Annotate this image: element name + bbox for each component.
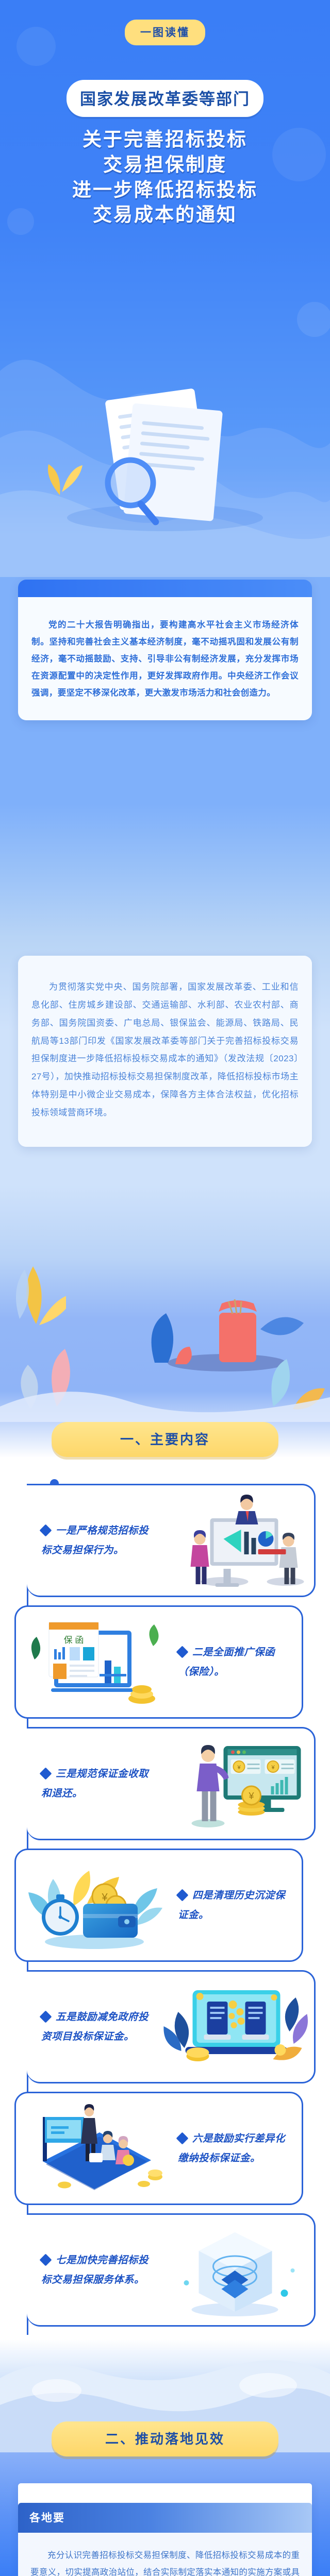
card-cap (18, 580, 312, 597)
documents-magnifier-illustration (0, 363, 330, 533)
svg-text:¥: ¥ (237, 1765, 241, 1771)
implementation-card: 各地要 充分认识完善招标投标交易担保制度、降低招标投标交易成本的重要意义，切实提… (18, 2483, 312, 2576)
secure-vault-illustration (156, 2221, 314, 2319)
diamond-bullet-icon (176, 1646, 188, 1658)
section-2-pill: 二、推动落地见效 (52, 2421, 278, 2456)
podium-presentation-illustration (156, 1492, 314, 1589)
man-figure (279, 1533, 298, 1584)
item-5-label: 五是鼓励减免政府投资项目投标保证金。 (41, 2011, 148, 2042)
clock-wallet-illustration: ¥ (16, 1856, 173, 1954)
intro-paragraph-2-card: 为贯彻落实党中央、国务院部署，国家发展改革委、工业和信息化部、住房城乡建设部、交… (18, 956, 312, 1147)
intro-paragraph-2-text: 为贯彻落实党中央、国务院部署，国家发展改革委、工业和信息化部、住房城乡建设部、交… (31, 978, 299, 1122)
speaker-figure (236, 1495, 258, 1524)
isometric-meeting-illustration (16, 2099, 173, 2197)
item-6-label: 六是鼓励实行差异化缴纳投标保证金。 (178, 2133, 285, 2164)
diamond-bullet-icon (176, 2132, 188, 2144)
people-scene-decoration (0, 1252, 330, 1422)
intro-paragraph-1-text: 党的二十大报告明确指出，要构建高水平社会主义市场经济体制。坚持和完善社会主义基本… (31, 617, 299, 702)
infographic-page: 一图读懂 国家发展改革委等部门 关于完善招标投标 交易担保制度 进一步降低招标投… (0, 0, 330, 2576)
item-4-label: 四是清理历史沉淀保证金。 (178, 1890, 285, 1921)
diamond-bullet-icon (39, 2253, 52, 2266)
woman-figure (191, 1530, 209, 1584)
document-title: 关于完善招标投标 交易担保制度 进一步降低招标投标 交易成本的通知 (0, 127, 330, 228)
laptop-coin-transfer-illustration (156, 1978, 314, 2076)
item-2-label: 二是全面推广保函（保险）。 (178, 1647, 275, 1677)
title-line-1: 关于完善招标投标 (0, 127, 330, 152)
item-1-label: 一是严格规范招标投标交易担保行为。 (41, 1525, 148, 1556)
read-in-one-picture-badge-wrap: 一图读懂 (0, 20, 330, 45)
list-item[interactable]: 四是清理历史沉淀保证金。 ¥ (14, 1849, 303, 1962)
diamond-bullet-icon (39, 1767, 52, 1780)
card-heading-local: 各地要 (18, 2503, 312, 2533)
intro-paragraph-1-card: 党的二十大报告明确指出，要构建高水平社会主义市场经济体制。坚持和完善社会主义基本… (18, 580, 312, 720)
list-item[interactable]: 七是加快完善招标投标交易担保服务体系。 (27, 2213, 316, 2327)
list-item[interactable]: 五是鼓励减免政府投资项目投标保证金。 (27, 1970, 316, 2083)
diamond-bullet-icon (39, 2010, 52, 2023)
section-heading-main-content: 一、主要内容 (52, 1422, 278, 1457)
main-content-item-list: 一是严格规范招标投标交易担保行为。 (0, 1484, 330, 2335)
svg-text:保 函: 保 函 (64, 1635, 84, 1645)
list-item[interactable]: 二是全面推广保函（保险）。 保 函 (14, 1605, 303, 1719)
item-7-label: 七是加快完善招标投标交易担保服务体系。 (41, 2255, 148, 2285)
section-1-pill: 一、主要内容 (52, 1422, 278, 1457)
card-body-local: 充分认识完善招标投标交易担保制度、降低招标投标交易成本的重要意义，切实提高政治站… (18, 2533, 312, 2576)
implementation-card-list: 各地要 充分认识完善招标投标交易担保制度、降低招标投标交易成本的重要意义，切实提… (18, 2483, 312, 2576)
diamond-bullet-icon (176, 1889, 188, 1901)
title-block: 国家发展改革委等部门 关于完善招标投标 交易担保制度 进一步降低招标投标 交易成… (0, 80, 330, 228)
title-line-4: 交易成本的通知 (0, 202, 330, 228)
list-item[interactable]: 三是规范保证金收取和退还。 ¥ ¥ (27, 1727, 316, 1840)
section-heading-implementation: 二、推动落地见效 (52, 2421, 278, 2456)
diamond-bullet-icon (39, 1524, 52, 1536)
list-item[interactable]: 一是严格规范招标投标交易担保行为。 (27, 1484, 316, 1597)
title-line-3: 进一步降低招标投标 (0, 178, 330, 203)
svg-text:¥: ¥ (271, 1765, 275, 1771)
list-item[interactable]: 六是鼓励实行差异化缴纳投标保证金。 (14, 2092, 303, 2205)
title-line-2: 交易担保制度 (0, 152, 330, 178)
monitor-coins-illustration: ¥ ¥ ¥ (156, 1735, 314, 1833)
svg-text:¥: ¥ (248, 1791, 254, 1801)
item-3-label: 三是规范保证金收取和退还。 (41, 1768, 148, 1799)
issuer-pill: 国家发展改革委等部门 (67, 80, 263, 117)
read-in-one-picture-badge: 一图读懂 (125, 20, 205, 45)
guarantee-letter-laptop-illustration: 保 函 (16, 1613, 173, 1711)
leaf-decoration-left (4, 1216, 66, 1329)
